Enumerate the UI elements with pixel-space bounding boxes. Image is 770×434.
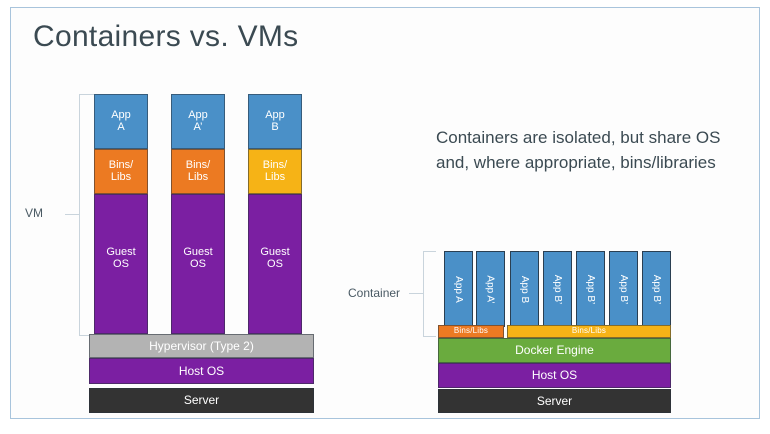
container-host-os-bar: Host OS bbox=[438, 363, 671, 388]
vm-app-label: App A’ bbox=[188, 110, 208, 133]
vm-bracket-label: VM bbox=[25, 206, 43, 220]
vm-guest-os-block: Guest OS bbox=[171, 194, 225, 334]
vm-guest-os-label: Guest OS bbox=[106, 247, 135, 270]
container-app-block: App B’ bbox=[609, 251, 638, 327]
docker-engine-label: Docker Engine bbox=[515, 344, 594, 357]
container-app-block: App B’ bbox=[543, 251, 572, 327]
container-bracket bbox=[423, 251, 436, 337]
vm-bins-label: Bins/ Libs bbox=[186, 160, 210, 183]
vm-hypervisor-label: Hypervisor (Type 2) bbox=[149, 340, 254, 353]
container-app-label: App B’ bbox=[552, 274, 563, 303]
vm-bins-block: Bins/ Libs bbox=[171, 149, 225, 194]
vm-host-os-bar: Host OS bbox=[89, 358, 314, 384]
docker-engine-bar: Docker Engine bbox=[438, 338, 671, 363]
vm-host-os-label: Host OS bbox=[179, 365, 224, 378]
vm-guest-os-label: Guest OS bbox=[260, 247, 289, 270]
vm-app-block: App A’ bbox=[171, 94, 225, 149]
container-bracket-label: Container bbox=[348, 286, 400, 300]
vm-server-bar: Server bbox=[89, 388, 314, 413]
container-server-label: Server bbox=[537, 395, 572, 408]
container-app-label: App B bbox=[519, 275, 530, 302]
vm-app-label: App B bbox=[265, 110, 285, 133]
container-app-label: App A bbox=[453, 276, 464, 303]
container-app-block: App B’ bbox=[576, 251, 605, 327]
container-app-block: App B bbox=[510, 251, 539, 327]
container-app-block: App B’ bbox=[642, 251, 671, 327]
container-bins-label: Bins/Libs bbox=[454, 327, 488, 335]
container-app-label: App B’ bbox=[651, 274, 662, 303]
slide-canvas: Containers vs. VMs VM App A Bins/ Libs G… bbox=[10, 7, 760, 419]
container-bins-segment: Bins/Libs bbox=[438, 325, 504, 338]
container-bracket-stem bbox=[409, 293, 424, 294]
vm-guest-os-block: Guest OS bbox=[94, 194, 148, 334]
container-app-label: App B’ bbox=[618, 274, 629, 303]
vm-bins-block: Bins/ Libs bbox=[248, 149, 302, 194]
container-host-os-label: Host OS bbox=[532, 369, 577, 382]
vm-hypervisor-bar: Hypervisor (Type 2) bbox=[89, 334, 314, 358]
vm-guest-os-label: Guest OS bbox=[183, 247, 212, 270]
container-server-bar: Server bbox=[438, 389, 671, 413]
vm-app-block: App A bbox=[94, 94, 148, 149]
container-app-label: App B’ bbox=[585, 274, 596, 303]
page-title: Containers vs. VMs bbox=[33, 20, 298, 54]
vm-bins-label: Bins/ Libs bbox=[109, 160, 133, 183]
caption-text: Containers are isolated, but share OS an… bbox=[436, 126, 736, 175]
container-bins-segment: Bins/Libs bbox=[507, 325, 671, 338]
container-app-block: App A’ bbox=[476, 251, 505, 327]
vm-bins-block: Bins/ Libs bbox=[94, 149, 148, 194]
vm-app-block: App B bbox=[248, 94, 302, 149]
vm-bracket-stem bbox=[65, 214, 80, 215]
container-app-label: App A’ bbox=[485, 275, 496, 303]
vm-bins-label: Bins/ Libs bbox=[263, 160, 287, 183]
vm-guest-os-block: Guest OS bbox=[248, 194, 302, 334]
vm-server-label: Server bbox=[184, 394, 219, 407]
container-app-block: App A bbox=[444, 251, 473, 327]
vm-bracket bbox=[79, 94, 94, 336]
container-bins-label: Bins/Libs bbox=[572, 327, 606, 335]
vm-app-label: App A bbox=[111, 110, 131, 133]
